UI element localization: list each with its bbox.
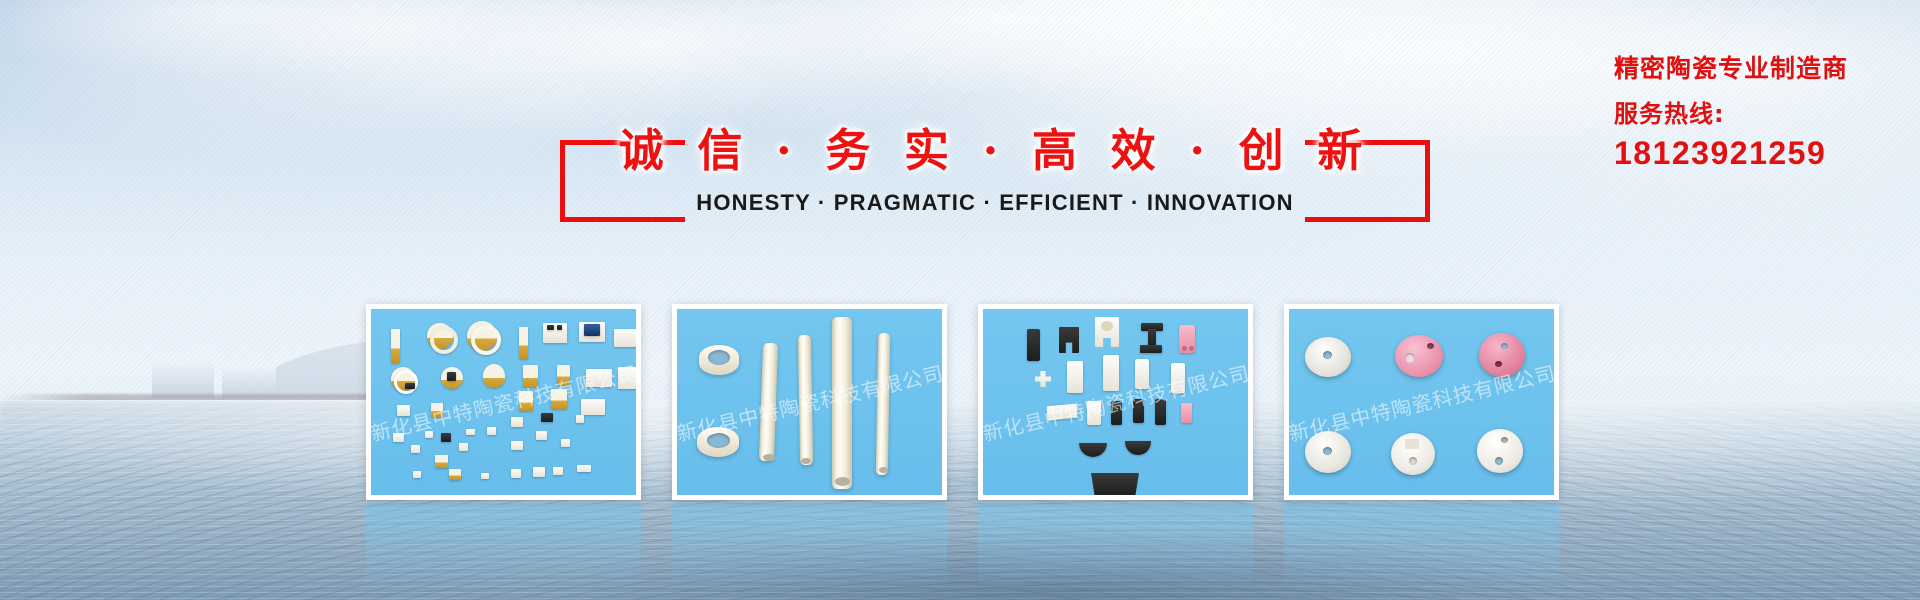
product-panel-smd-ceramic-components[interactable]: 新化县中特陶瓷科技有限公司 [366,304,641,500]
contact-block: 精密陶瓷专业制造商 服务热线: 18123921259 [1614,52,1848,172]
product-panel-row: 新化县中特陶瓷科技有限公司 新化县中特陶瓷科技有限公司 [366,304,1588,504]
panel-image-blocks: 新化县中特陶瓷科技有限公司 [983,309,1248,495]
hero-banner: 诚 信 · 务 实 · 高 效 · 创 新 HONESTY · PRAGMATI… [0,0,1920,600]
panel-image-tubes: 新化县中特陶瓷科技有限公司 [677,309,942,495]
hotline-label: 服务热线: [1614,99,1848,129]
panel-reflection [366,504,641,599]
hotline-number[interactable]: 18123921259 [1614,134,1848,172]
panel-image-smd: 新化县中特陶瓷科技有限公司 [371,309,636,495]
product-panel-ceramic-discs[interactable]: 新化县中特陶瓷科技有限公司 [1284,304,1559,500]
building [152,364,214,398]
slogan-chinese: 诚 信 · 务 实 · 高 效 · 创 新 [560,120,1430,182]
slogan-english: HONESTY · PRAGMATIC · EFFICIENT · INNOVA… [560,190,1430,216]
slogan-block: 诚 信 · 务 实 · 高 效 · 创 新 HONESTY · PRAGMATI… [560,120,1430,230]
panel-image-discs: 新化县中特陶瓷科技有限公司 [1289,309,1554,495]
product-panel-ceramic-blocks[interactable]: 新化县中特陶瓷科技有限公司 [978,304,1253,500]
company-tagline: 精密陶瓷专业制造商 [1614,52,1848,86]
product-panel-ceramic-tubes[interactable]: 新化县中特陶瓷科技有限公司 [672,304,947,500]
panel-reflection [1284,504,1559,599]
panel-reflections [366,504,1588,599]
panel-reflection [672,504,947,599]
panel-reflection [978,504,1253,599]
